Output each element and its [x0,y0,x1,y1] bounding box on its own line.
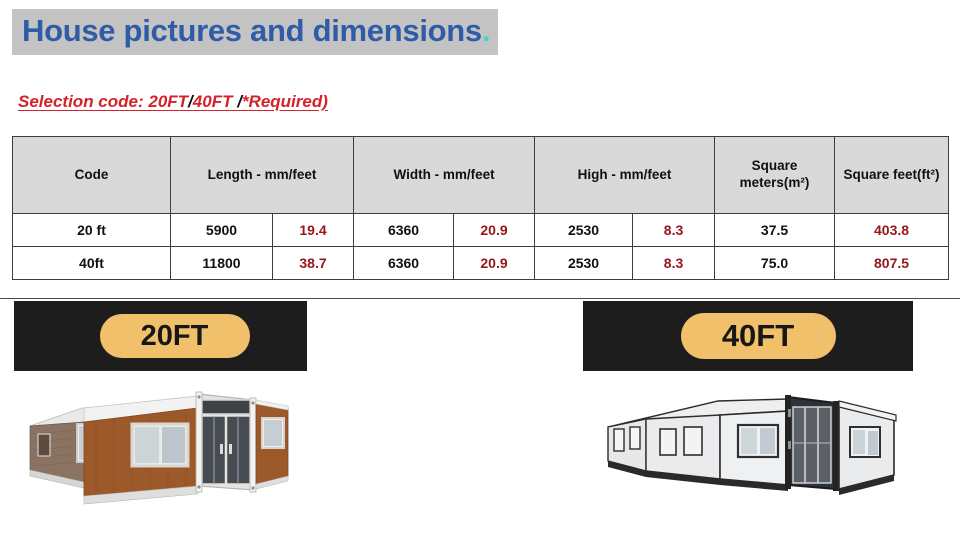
banner-40ft: 40FT [583,301,913,371]
col-header-width: Width - mm/feet [354,137,535,214]
banner-20ft-pill: 20FT [100,314,250,358]
cell-high-mm: 2530 [535,247,633,280]
col-header-square-meters-line1: Square [752,158,798,173]
selection-code-lead: Selection code: 20FT [18,92,188,111]
cell-square-feet: 807.5 [835,247,949,280]
page-title-label: House pictures and dimensions [22,13,482,48]
cell-length-feet: 38.7 [273,247,354,280]
page-title: House pictures and dimensions. [12,9,498,55]
cell-width-mm: 6360 [354,214,454,247]
cell-high-mm: 2530 [535,214,633,247]
cell-square-feet: 403.8 [835,214,949,247]
cell-code: 40ft [13,247,171,280]
cell-width-feet: 20.9 [454,247,535,280]
page-title-accent-dot: . [482,13,490,48]
banner-20ft-label: 20FT [141,320,209,353]
col-header-code: Code [13,137,171,214]
house-photo-40ft [598,385,924,507]
cell-high-feet: 8.3 [633,247,715,280]
table-header-row: Code Length - mm/feet Width - mm/feet Hi… [13,137,949,214]
cell-width-mm: 6360 [354,247,454,280]
cell-high-feet: 8.3 [633,214,715,247]
cell-width-feet: 20.9 [454,214,535,247]
cell-length-feet: 19.4 [273,214,354,247]
col-header-length: Length - mm/feet [171,137,354,214]
banner-40ft-label: 40FT [722,318,794,354]
col-header-square-feet: Square feet(ft²) [835,137,949,214]
cell-square-meters: 75.0 [715,247,835,280]
col-header-square-meters: Square meters(m²) [715,137,835,214]
dimensions-table: Code Length - mm/feet Width - mm/feet Hi… [12,136,949,280]
cell-length-mm: 5900 [171,214,273,247]
selection-code-tail: *Required) [242,92,328,111]
section-divider [0,298,960,299]
banner-20ft: 20FT [14,301,307,371]
col-header-square-meters-line2: meters(m²) [740,175,810,190]
selection-code-note: Selection code: 20FT/40FT /*Required) [18,92,328,112]
table-row: 40ft 11800 38.7 6360 20.9 2530 8.3 75.0 … [13,247,949,280]
page-title-text: House pictures and dimensions. [12,9,498,55]
table-row: 20 ft 5900 19.4 6360 20.9 2530 8.3 37.5 … [13,214,949,247]
cell-code: 20 ft [13,214,171,247]
cell-square-meters: 37.5 [715,214,835,247]
house-photo-20ft [22,378,294,510]
banner-40ft-pill: 40FT [681,313,836,359]
selection-code-mid: 40FT [193,92,237,111]
col-header-high: High - mm/feet [535,137,715,214]
cell-length-mm: 11800 [171,247,273,280]
